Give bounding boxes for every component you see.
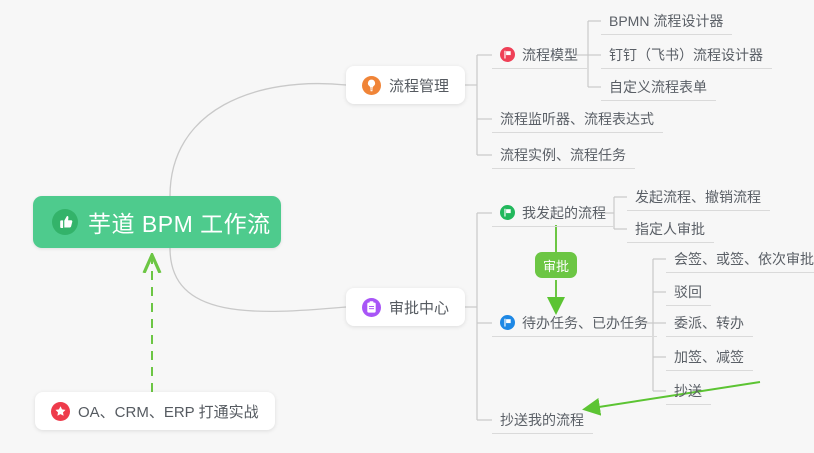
node-process-instance[interactable]: 流程实例、流程任务 bbox=[492, 141, 635, 169]
node-cc[interactable]: 抄送 bbox=[666, 377, 711, 405]
node-reject[interactable]: 驳回 bbox=[666, 278, 711, 306]
node-todo-done-tasks[interactable]: 待办任务、已办任务 bbox=[492, 309, 657, 337]
node-start-cancel-process[interactable]: 发起流程、撤销流程 bbox=[627, 183, 770, 211]
branch-process-management[interactable]: 流程管理 bbox=[346, 66, 465, 104]
node-custom-form-label: 自定义流程表单 bbox=[609, 77, 707, 97]
branch-approval-center[interactable]: 审批中心 bbox=[346, 288, 465, 326]
node-start-cancel-process-label: 发起流程、撤销流程 bbox=[635, 187, 761, 207]
blue-flag-icon bbox=[500, 315, 515, 330]
node-add-remove-sign[interactable]: 加签、减签 bbox=[666, 343, 753, 371]
node-dingtalk-designer[interactable]: 钉钉（飞书）流程设计器 bbox=[601, 41, 772, 69]
node-cc-label: 抄送 bbox=[674, 381, 702, 401]
node-process-model[interactable]: 流程模型 bbox=[492, 41, 587, 69]
thumbs-up-icon bbox=[51, 208, 79, 236]
root-node-label: 芋道 BPM 工作流 bbox=[88, 205, 271, 239]
approval-tag-label: 审批 bbox=[543, 256, 569, 275]
node-countersign-label: 会签、或签、依次审批 bbox=[674, 249, 814, 269]
clipboard-icon bbox=[362, 298, 381, 317]
node-custom-form[interactable]: 自定义流程表单 bbox=[601, 73, 716, 101]
node-dingtalk-designer-label: 钉钉（飞书）流程设计器 bbox=[609, 45, 763, 65]
node-delegate-transfer[interactable]: 委派、转办 bbox=[666, 309, 753, 337]
node-cc-my-process[interactable]: 抄送我的流程 bbox=[492, 406, 593, 434]
node-process-instance-label: 流程实例、流程任务 bbox=[500, 145, 626, 165]
node-countersign[interactable]: 会签、或签、依次审批 bbox=[666, 245, 814, 273]
node-process-model-label: 流程模型 bbox=[522, 45, 578, 65]
node-cc-my-process-label: 抄送我的流程 bbox=[500, 410, 584, 430]
node-my-started-process-label: 我发起的流程 bbox=[522, 203, 606, 223]
node-todo-done-tasks-label: 待办任务、已办任务 bbox=[522, 313, 648, 333]
branch-process-management-label: 流程管理 bbox=[389, 75, 449, 96]
node-process-listener[interactable]: 流程监听器、流程表达式 bbox=[492, 105, 663, 133]
bottom-note-label: OA、CRM、ERP 打通实战 bbox=[78, 401, 259, 422]
node-assigned-approval-label: 指定人审批 bbox=[635, 219, 705, 239]
bottom-note-node[interactable]: OA、CRM、ERP 打通实战 bbox=[35, 392, 275, 430]
node-bpmn-designer-label: BPMN 流程设计器 bbox=[609, 11, 723, 31]
root-node[interactable]: 芋道 BPM 工作流 bbox=[33, 196, 281, 248]
node-process-listener-label: 流程监听器、流程表达式 bbox=[500, 109, 654, 129]
star-icon bbox=[51, 402, 70, 421]
lightbulb-icon bbox=[362, 76, 381, 95]
node-delegate-transfer-label: 委派、转办 bbox=[674, 313, 744, 333]
node-add-remove-sign-label: 加签、减签 bbox=[674, 347, 744, 367]
node-bpmn-designer[interactable]: BPMN 流程设计器 bbox=[601, 7, 732, 35]
green-flag-icon bbox=[500, 205, 515, 220]
node-assigned-approval[interactable]: 指定人审批 bbox=[627, 215, 714, 243]
branch-approval-center-label: 审批中心 bbox=[389, 297, 449, 318]
approval-tag-badge[interactable]: 审批 bbox=[535, 252, 577, 278]
node-my-started-process[interactable]: 我发起的流程 bbox=[492, 199, 615, 227]
node-reject-label: 驳回 bbox=[674, 282, 702, 302]
mindmap-canvas: 芋道 BPM 工作流 OA、CRM、ERP 打通实战 流程管理 bbox=[0, 0, 814, 453]
red-flag-icon bbox=[500, 47, 515, 62]
